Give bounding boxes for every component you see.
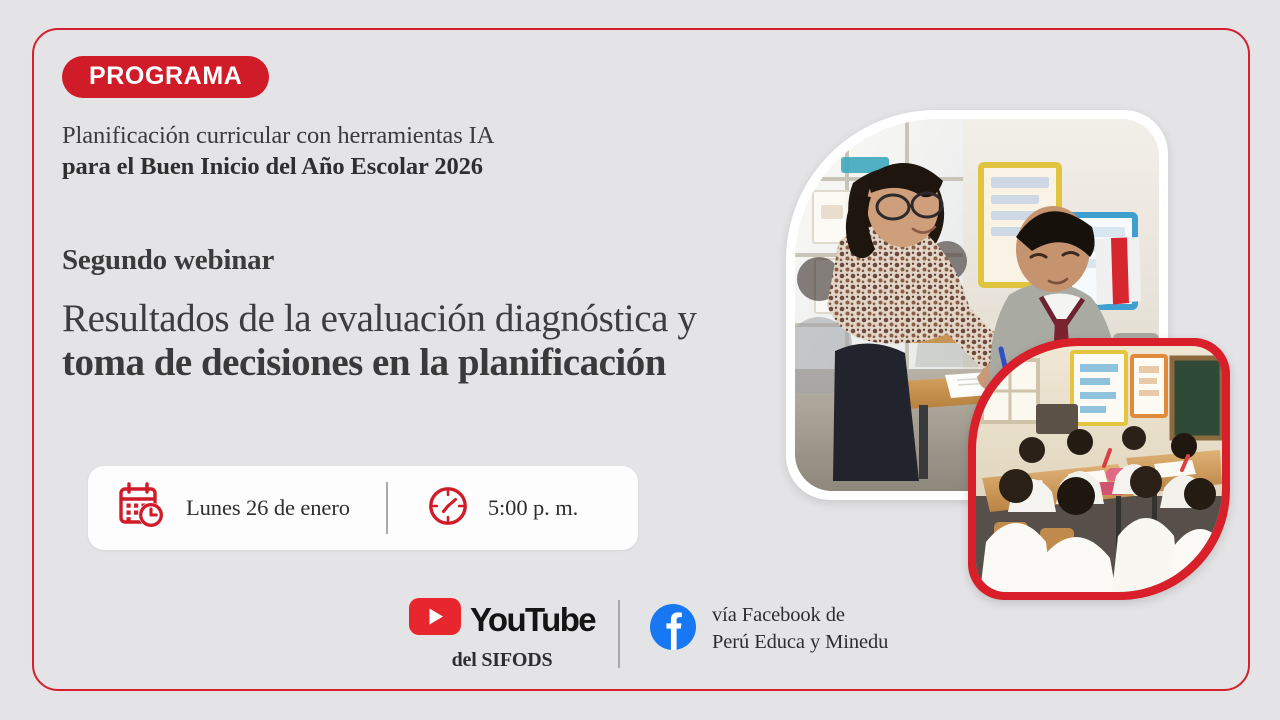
schedule-time-group: 5:00 p. m. xyxy=(388,466,578,550)
clock-icon xyxy=(426,484,470,533)
schedule-time-text: 5:00 p. m. xyxy=(488,495,578,521)
photo-students-in-classroom-clip xyxy=(976,346,1222,592)
footer-social-row: YouTube del SIFODS vía Facebook de Perú … xyxy=(412,598,888,672)
facebook-caption-line1: vía Facebook de xyxy=(712,602,888,629)
footer-divider xyxy=(618,600,620,668)
program-badge: PROGRAMA xyxy=(62,56,269,98)
facebook-caption: vía Facebook de Perú Educa y Minedu xyxy=(712,602,888,656)
webinar-number-label: Segundo webinar xyxy=(62,244,782,277)
program-subtitle-line2: para el Buen Inicio del Año Escolar 2026 xyxy=(62,151,782,183)
facebook-icon xyxy=(650,604,696,655)
youtube-channel-label: del SIFODS xyxy=(452,649,553,672)
program-subtitle-line1: Planificación curricular con herramienta… xyxy=(62,120,782,151)
youtube-logo-row: YouTube xyxy=(409,598,595,640)
facebook-caption-line2: Perú Educa y Minedu xyxy=(712,629,888,656)
youtube-wordmark: YouTube xyxy=(470,603,595,636)
webinar-poster: PROGRAMA Planificación curricular con he… xyxy=(0,0,1280,720)
webinar-title-line1: Resultados de la evaluación diagnóstica … xyxy=(62,297,782,341)
schedule-date-group: Lunes 26 de enero xyxy=(88,466,350,550)
calendar-clock-icon xyxy=(118,482,168,535)
webinar-title-line2: toma de decisiones en la planificación xyxy=(62,340,782,386)
youtube-block[interactable]: YouTube del SIFODS xyxy=(412,598,592,672)
youtube-icon xyxy=(409,598,461,640)
schedule-card: Lunes 26 de enero 5:00 p. m. xyxy=(88,466,638,550)
facebook-block[interactable]: vía Facebook de Perú Educa y Minedu xyxy=(650,598,888,656)
schedule-date-text: Lunes 26 de enero xyxy=(186,495,350,521)
photo-students-in-classroom xyxy=(968,338,1230,600)
left-content-column: PROGRAMA Planificación curricular con he… xyxy=(62,56,782,386)
